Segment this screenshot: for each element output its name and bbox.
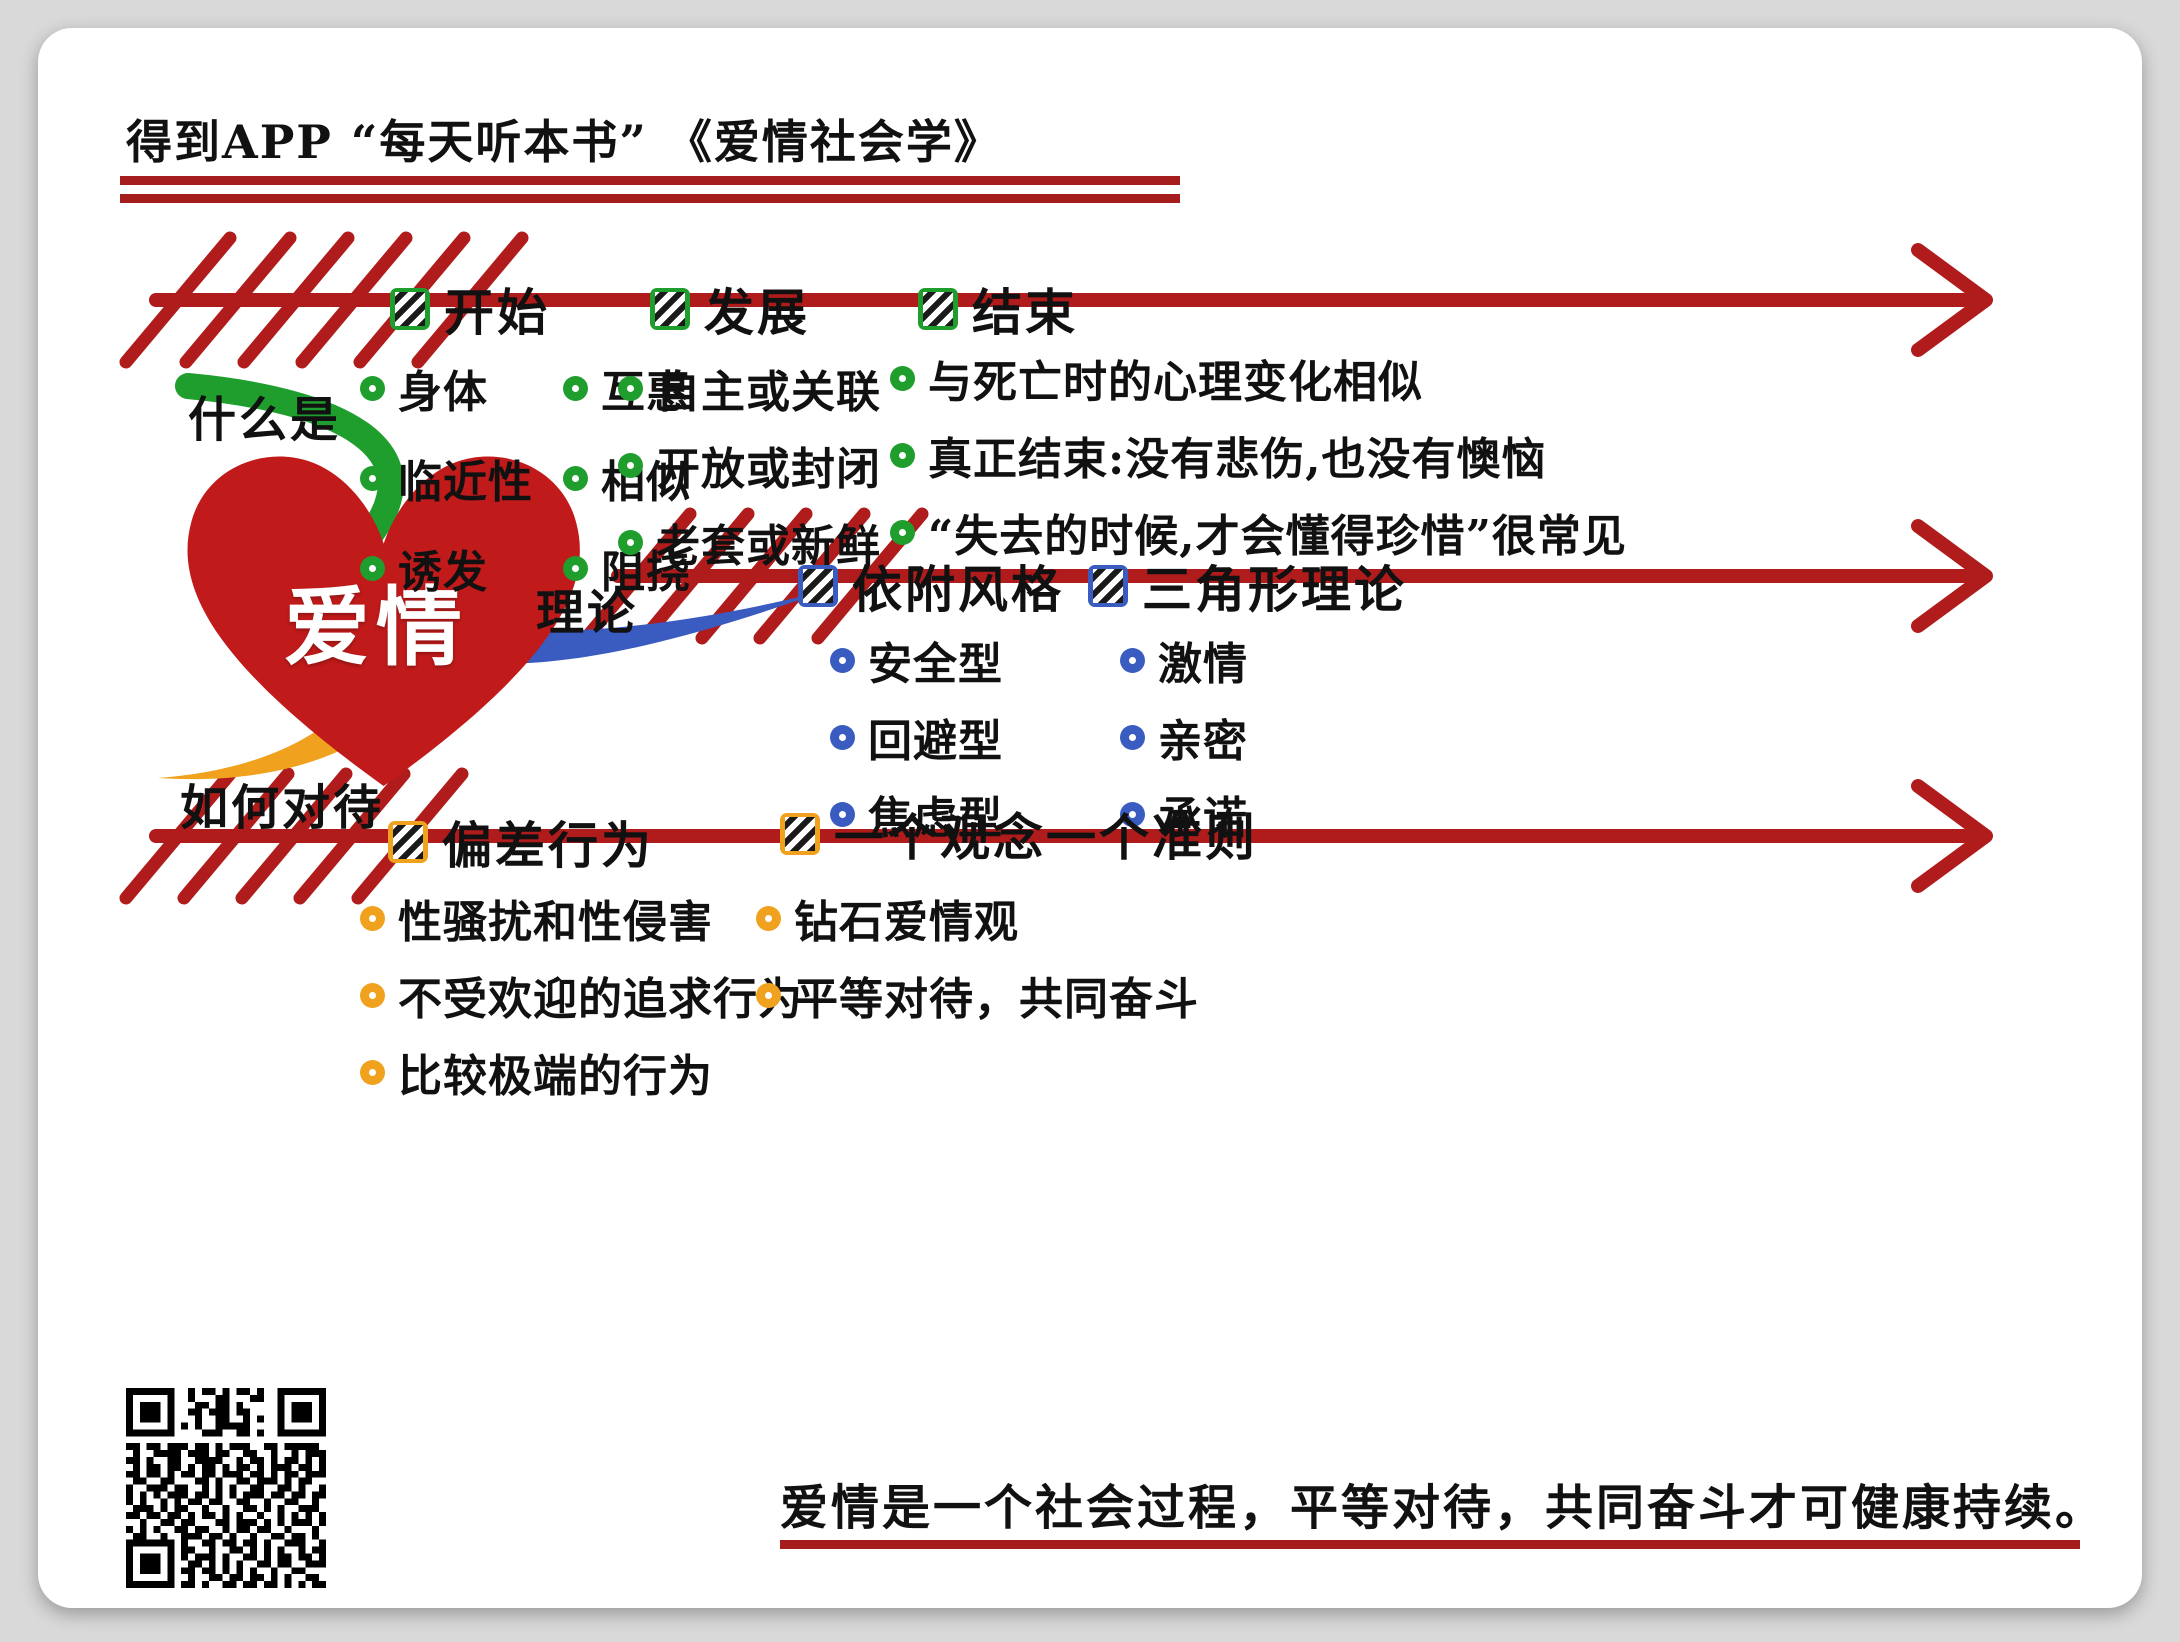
topic-deviant-behavior[interactable]: 偏差行为 <box>388 806 654 878</box>
topic-development-label: 发展 <box>704 273 810 345</box>
list-item-label: 回避型 <box>868 705 1003 769</box>
topic-one-belief-one-rule[interactable]: 一个观念一个准则 <box>780 798 1258 870</box>
bullet-dot-icon <box>1120 648 1145 673</box>
list-item-label: 诱发 <box>398 536 488 600</box>
list-item-label: 与死亡时的心理变化相似 <box>928 346 1423 410</box>
bullet-dot-icon <box>360 376 385 401</box>
list-item-label: 激情 <box>1158 628 1248 692</box>
topic-triangular-theory[interactable]: 三角形理论 <box>1088 550 1407 622</box>
bullet-dot-icon <box>563 556 588 581</box>
bullet-dot-icon <box>618 453 643 478</box>
list-item: 真正结束:没有悲伤,也没有懊恼 <box>890 423 1627 487</box>
bullet-dot-icon <box>360 1060 385 1085</box>
list-item: 身体 <box>360 356 533 420</box>
list-item-label: 不受欢迎的追求行为 <box>398 963 803 1027</box>
list-item-label: 自主或关联 <box>656 356 881 420</box>
list-item: 回避型 <box>830 705 1003 769</box>
list-item-label: 身体 <box>398 356 488 420</box>
branch-label-what-is: 什么是 <box>188 380 341 450</box>
list-item: 性骚扰和性侵害 <box>360 886 803 950</box>
mindmap-card: 得到APP “每天听本书” 《爱情社会学》 <box>38 28 2142 1608</box>
list-item: 与死亡时的心理变化相似 <box>890 346 1627 410</box>
bullet-dot-icon <box>830 648 855 673</box>
list-item: 诱发 <box>360 536 533 600</box>
list-item: 安全型 <box>830 628 1003 692</box>
list-item-label: 安全型 <box>868 628 1003 692</box>
footer-rule <box>780 1540 2080 1549</box>
bullet-dot-icon <box>618 376 643 401</box>
topic-development[interactable]: 发展 <box>650 273 810 345</box>
list-item: 比较极端的行为 <box>360 1040 803 1104</box>
bullets-deviant-behavior: 性骚扰和性侵害 不受欢迎的追求行为 比较极端的行为 <box>360 886 803 1117</box>
hatch-badge-green-icon <box>390 288 430 330</box>
topic-attachment-style-label: 依附风格 <box>852 550 1064 622</box>
list-item-label: 真正结束:没有悲伤,也没有懊恼 <box>928 423 1547 487</box>
topic-deviant-behavior-label: 偏差行为 <box>442 806 654 878</box>
bullet-dot-icon <box>830 725 855 750</box>
list-item-label: 平等对待，共同奋斗 <box>794 963 1199 1027</box>
topic-start[interactable]: 开始 <box>390 273 550 345</box>
bullet-dot-icon <box>1120 725 1145 750</box>
bullet-dot-icon <box>890 520 915 545</box>
topic-start-label: 开始 <box>444 273 550 345</box>
list-item: 开放或封闭 <box>618 433 881 497</box>
bullet-dot-icon <box>890 443 915 468</box>
bullet-dot-icon <box>890 366 915 391</box>
list-item: 激情 <box>1120 628 1248 692</box>
hatch-badge-green-icon <box>650 288 690 330</box>
bullet-dot-icon <box>360 983 385 1008</box>
list-item: 不受欢迎的追求行为 <box>360 963 803 1027</box>
list-item-label: 亲密 <box>1158 705 1248 769</box>
bullet-dot-icon <box>563 466 588 491</box>
topic-ending-label: 结束 <box>972 273 1078 345</box>
hatch-badge-blue-icon <box>798 565 838 607</box>
bullet-dot-icon <box>360 906 385 931</box>
hatch-badge-orange-icon <box>388 821 428 863</box>
list-item-label: 性骚扰和性侵害 <box>398 886 713 950</box>
bullets-one-belief-one-rule: 钻石爱情观 平等对待，共同奋斗 <box>756 886 1199 1040</box>
list-item-label: 钻石爱情观 <box>794 886 1019 950</box>
bullet-dot-icon <box>563 376 588 401</box>
hatch-badge-orange-icon <box>780 813 820 855</box>
mindmap-page: 得到APP “每天听本书” 《爱情社会学》 <box>0 0 2180 1642</box>
list-item-label: 比较极端的行为 <box>398 1040 713 1104</box>
list-item: 平等对待，共同奋斗 <box>756 963 1199 1027</box>
bullet-dot-icon <box>756 983 781 1008</box>
branch-label-how-to-treat: 如何对待 <box>180 768 384 838</box>
list-item-label: 临近性 <box>398 446 533 510</box>
topic-one-belief-one-rule-label: 一个观念一个准则 <box>834 798 1258 870</box>
hatch-badge-green-icon <box>918 288 958 330</box>
bullet-dot-icon <box>618 530 643 555</box>
bullet-dot-icon <box>756 906 781 931</box>
topic-triangular-theory-label: 三角形理论 <box>1142 550 1407 622</box>
hatch-badge-blue-icon <box>1088 565 1128 607</box>
bullet-dot-icon <box>360 466 385 491</box>
topic-ending[interactable]: 结束 <box>918 273 1078 345</box>
list-item: 临近性 <box>360 446 533 510</box>
bullet-dot-icon <box>360 556 385 581</box>
list-item-label: 开放或封闭 <box>656 433 881 497</box>
footer-conclusion: 爱情是一个社会过程，平等对待，共同奋斗才可健康持续。 <box>780 1468 2106 1538</box>
topic-attachment-style[interactable]: 依附风格 <box>798 550 1064 622</box>
list-item: 自主或关联 <box>618 356 881 420</box>
list-item: 钻石爱情观 <box>756 886 1199 950</box>
bullets-ending: 与死亡时的心理变化相似 真正结束:没有悲伤,也没有懊恼 “失去的时候,才会懂得珍… <box>890 346 1627 577</box>
qr-code[interactable] <box>126 1388 326 1588</box>
list-item: 亲密 <box>1120 705 1248 769</box>
